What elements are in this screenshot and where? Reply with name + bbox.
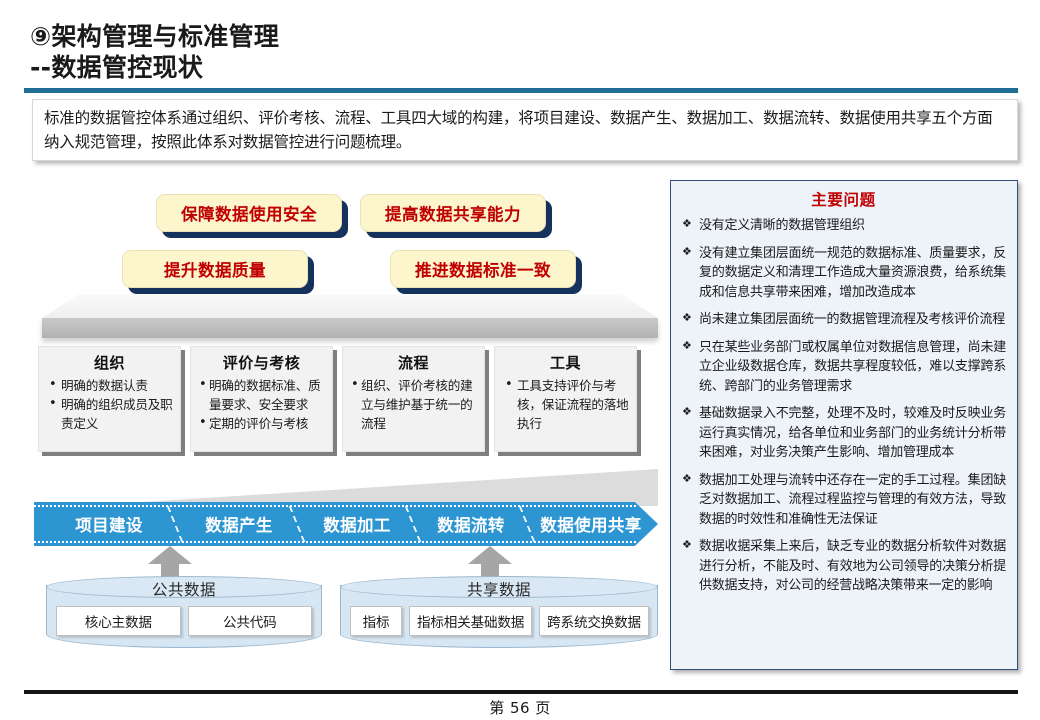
goal-card-2[interactable]: 提升数据质量 <box>122 250 308 288</box>
main-problems-title: 主要问题 <box>681 188 1006 210</box>
framework-diagram: 保障数据使用安全 提高数据共享能力 提升数据质量 推进数据标准一致 组织 明确的… <box>20 172 660 672</box>
page-title: ⑨架构管理与标准管理 --数据管控现状 <box>30 22 730 83</box>
pillar-0-item-0: 明确的数据认责 <box>46 376 173 395</box>
problem-item-4: 基础数据录入不完整，处理不及时，较难及时反映业务运行真实情况，给各单位和业务部门… <box>681 404 1006 463</box>
database-0-chip-1[interactable]: 公共代码 <box>188 606 313 636</box>
flow-step-2[interactable]: 数据加工 <box>302 502 412 546</box>
pillar-card-evaluation[interactable]: 评价与考核 明确的数据标准、质量要求、安全要求 定期的评价与考核 <box>190 346 333 452</box>
pillar-1-item-1: 定期的评价与考核 <box>198 414 325 433</box>
pillar-3-item-0: 工具支持评价与考核，保证流程的落地执行 <box>502 376 629 433</box>
up-arrow-icon-public-data <box>148 546 192 580</box>
page-number: 第 56 页 <box>0 697 1040 718</box>
problem-item-2: 尚未建立集团层面统一的数据管理流程及考核评价流程 <box>681 310 1006 330</box>
flow-step-3[interactable]: 数据流转 <box>416 502 526 546</box>
pillar-0-item-1: 明确的组织成员及职责定义 <box>46 395 173 433</box>
main-problems-list: 没有定义清晰的数据管理组织 没有建立集团层面统一规范的数据标准、质量要求，反复的… <box>681 216 1006 596</box>
title-divider <box>24 88 1018 93</box>
pillar-card-process[interactable]: 流程 组织、评价考核的建立与维护基于统一的流程 <box>342 346 485 452</box>
pillar-1-item-0: 明确的数据标准、质量要求、安全要求 <box>198 376 325 414</box>
problem-item-0: 没有定义清晰的数据管理组织 <box>681 216 1006 236</box>
pillar-0-list: 明确的数据认责 明确的组织成员及职责定义 <box>46 376 173 433</box>
podium-front-face <box>42 318 658 338</box>
problem-item-3: 只在某些业务部门或权属单位对数据信息管理，尚未建立企业级数据仓库，数据共享程度较… <box>681 338 1006 397</box>
pillar-1-list: 明确的数据标准、质量要求、安全要求 定期的评价与考核 <box>198 376 325 433</box>
data-lifecycle-flow-bar: 项目建设 数据产生 数据加工 数据流转 数据使用共享 <box>34 502 658 546</box>
flow-step-1[interactable]: 数据产生 <box>184 502 294 546</box>
flow-step-4[interactable]: 数据使用共享 <box>528 502 654 546</box>
description-box: 标准的数据管控体系通过组织、评价考核、流程、工具四大域的构建，将项目建设、数据产… <box>32 99 1018 161</box>
goal-card-2-label: 提升数据质量 <box>164 257 266 281</box>
slide-root: ⑨架构管理与标准管理 --数据管控现状 标准的数据管控体系通过组织、评价考核、流… <box>0 0 1040 720</box>
description-text: 标准的数据管控体系通过组织、评价考核、流程、工具四大域的构建，将项目建设、数据产… <box>44 107 1007 154</box>
pillar-1-title: 评价与考核 <box>198 352 325 373</box>
podium-top-surface <box>42 294 658 318</box>
goal-card-3-label: 推进数据标准一致 <box>415 257 551 281</box>
database-1-chips: 指标 指标相关基础数据 跨系统交换数据 <box>350 606 648 636</box>
pillar-2-list: 组织、评价考核的建立与维护基于统一的流程 <box>350 376 477 433</box>
page-title-line-1: ⑨架构管理与标准管理 <box>30 22 730 53</box>
goal-card-0-label: 保障数据使用安全 <box>181 201 317 225</box>
database-cylinder-shared[interactable]: 共享数据 指标 指标相关基础数据 跨系统交换数据 <box>340 576 658 648</box>
up-arrow-icon-shared-data <box>468 546 512 580</box>
database-1-label: 共享数据 <box>340 578 658 600</box>
goal-card-1-label: 提高数据共享能力 <box>385 201 521 225</box>
pillar-card-organization[interactable]: 组织 明确的数据认责 明确的组织成员及职责定义 <box>38 346 181 452</box>
database-1-chip-0[interactable]: 指标 <box>350 606 402 636</box>
pillar-0-title: 组织 <box>46 352 173 373</box>
goal-card-1[interactable]: 提高数据共享能力 <box>360 194 546 232</box>
flow-step-0[interactable]: 项目建设 <box>38 502 180 546</box>
problem-item-5: 数据加工处理与流转中还存在一定的手工过程。集团缺乏对数据加工、流程过程监控与管理… <box>681 471 1006 530</box>
database-0-chips: 核心主数据 公共代码 <box>56 606 312 636</box>
database-1-chip-2[interactable]: 跨系统交换数据 <box>539 606 649 636</box>
funnel-wedge-shape <box>80 462 658 506</box>
database-1-chip-1[interactable]: 指标相关基础数据 <box>409 606 532 636</box>
page-title-line-2: --数据管控现状 <box>30 53 730 84</box>
pillar-2-item-0: 组织、评价考核的建立与维护基于统一的流程 <box>350 376 477 433</box>
goal-card-3[interactable]: 推进数据标准一致 <box>390 250 576 288</box>
pillar-3-list: 工具支持评价与考核，保证流程的落地执行 <box>502 376 629 433</box>
pillar-card-tools[interactable]: 工具 工具支持评价与考核，保证流程的落地执行 <box>494 346 637 452</box>
problem-item-1: 没有建立集团层面统一规范的数据标准、质量要求，反复的数据定义和清理工作造成大量资… <box>681 244 1006 303</box>
pillar-3-title: 工具 <box>502 352 629 373</box>
database-0-label: 公共数据 <box>46 578 322 600</box>
footer-divider <box>24 690 1018 694</box>
database-0-chip-0[interactable]: 核心主数据 <box>56 606 181 636</box>
database-cylinder-public[interactable]: 公共数据 核心主数据 公共代码 <box>46 576 322 648</box>
pillar-2-title: 流程 <box>350 352 477 373</box>
main-problems-panel: 主要问题 没有定义清晰的数据管理组织 没有建立集团层面统一规范的数据标准、质量要… <box>670 180 1018 670</box>
problem-item-6: 数据收据采集上来后，缺乏专业的数据分析软件对数据进行分析，不能及时、有效地为公司… <box>681 537 1006 596</box>
goal-card-0[interactable]: 保障数据使用安全 <box>156 194 342 232</box>
